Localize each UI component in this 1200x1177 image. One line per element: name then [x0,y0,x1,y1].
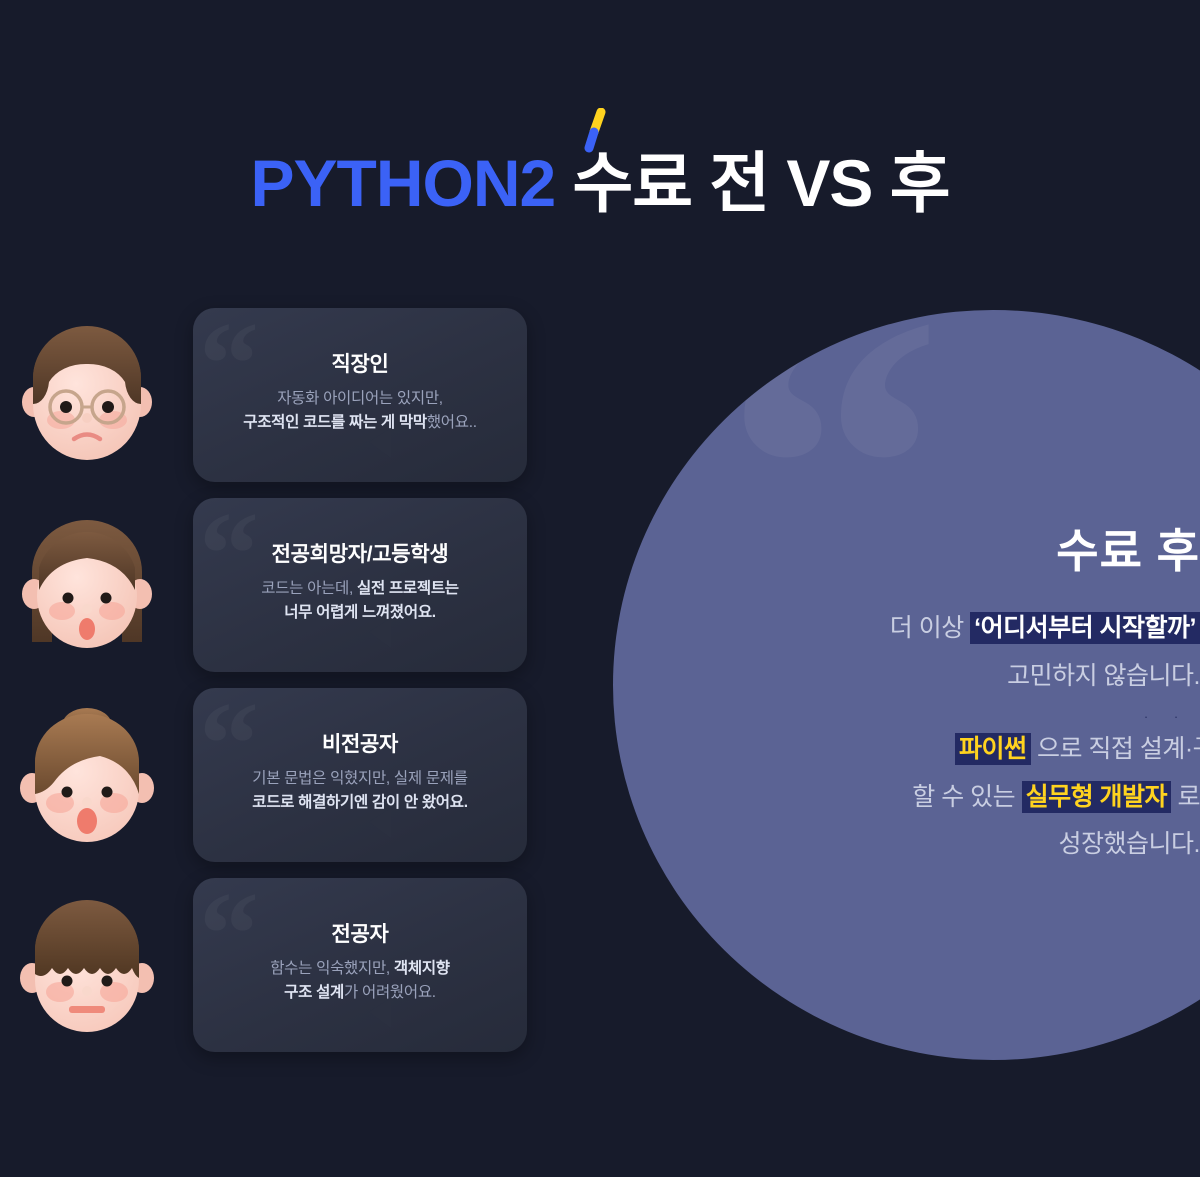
testimonial-role: 전공자 [211,918,509,948]
testimonial-body: 함수는 익숙했지만, 객체지향 구조 설계가 어려웠어요. [211,957,509,1005]
testimonial-line2-tail: 가 어려웠어요. [344,984,436,1001]
after-line-2: 고민하지 않습니다. [613,653,1200,701]
list-item: “ 비전공자 기본 문법은 익혔지만, 실제 문제를 코드로 해결하기엔 감이 … [0,680,560,870]
after-line3-emph-text: 설계·구현·자동화 [1140,735,1200,763]
testimonial-line1: 함수는 익숙했지만, [270,960,394,977]
avatar-non-major-bun-hair-surprised [12,702,162,852]
testimonial-line2-bold: 너무 어렵게 느껴졌어요. [284,604,436,621]
testimonial-role: 직장인 [211,348,509,378]
testimonial-line2-bold: 코드로 해결하기엔 감이 안 왔어요. [252,794,467,811]
testimonial-bubble: “ 직장인 자동화 아이디어는 있지만, 구조적인 코드를 짜는 게 막막했어요… [193,308,527,482]
after-line-5: 성장했습니다. [613,821,1200,869]
testimonial-line1: 자동화 아이디어는 있지만, [277,390,443,407]
testimonial-role: 전공희망자/고등학생 [211,538,509,568]
testimonial-bubble: “ 전공자 함수는 익숙했지만, 객체지향 구조 설계가 어려웠어요. [193,878,527,1052]
testimonial-line2-bold: 구조 설계 [284,984,344,1001]
after-line-3: 파이썬 으로 직접 · · · · · ·설계·구현·자동화 [613,726,1200,774]
after-line1-highlight: ‘어디서부터 시작할까’ [970,612,1200,644]
testimonial-line1: 기본 문법은 익혔지만, 실제 문제를 [252,770,467,787]
after-panel-content: 수료 후 더 이상 ‘어디서부터 시작할까’ 고민하지 않습니다. 파이썬 으로… [613,310,1200,1060]
avatar-office-worker-glasses-frown [12,322,162,472]
testimonial-line2-bold: 구조적인 코드를 짜는 게 막막 [243,414,427,431]
testimonial-body: 코드는 아는데, 실전 프로젝트는 너무 어렵게 느껴졌어요. [211,577,509,625]
after-line1-lead: 더 이상 [890,614,970,642]
testimonial-role: 비전공자 [211,728,509,758]
after-line4-lead: 할 수 있는 [912,783,1021,811]
list-item: “ 직장인 자동화 아이디어는 있지만, 구조적인 코드를 짜는 게 막막했어요… [0,300,560,490]
testimonial-line1-bold: 객체지향 [394,960,450,977]
emphasis-dots: · · · · · · [1140,710,1200,723]
testimonial-body: 기본 문법은 익혔지만, 실제 문제를 코드로 해결하기엔 감이 안 왔어요. [211,767,509,815]
after-line-1: 더 이상 ‘어디서부터 시작할까’ [613,605,1200,653]
pencil-stroke-icon [584,108,606,154]
title-brand: PYTHON2 [250,146,555,220]
avatar-major-bowl-cut-neutral [12,892,162,1042]
after-panel-title: 수료 후 [613,515,1200,581]
after-line3-mid: 으로 직접 [1031,735,1140,763]
testimonial-list: “ 직장인 자동화 아이디어는 있지만, 구조적인 코드를 짜는 게 막막했어요… [0,300,560,1060]
list-item: “ 전공자 함수는 익숙했지만, 객체지향 구조 설계가 어려웠어요. [0,870,560,1060]
avatar-student-long-hair-surprised [12,512,162,662]
testimonial-bubble: “ 비전공자 기본 문법은 익혔지만, 실제 문제를 코드로 해결하기엔 감이 … [193,688,527,862]
after-panel-body: 더 이상 ‘어디서부터 시작할까’ 고민하지 않습니다. 파이썬 으로 직접 ·… [613,605,1200,869]
after-line3-highlight: 파이썬 [955,733,1031,765]
testimonial-line2-tail: 했어요.. [427,414,477,431]
after-line4-highlight: 실무형 개발자 [1022,781,1171,813]
testimonial-body: 자동화 아이디어는 있지만, 구조적인 코드를 짜는 게 막막했어요.. [211,387,509,435]
after-line-4: 할 수 있는 실무형 개발자 로 [613,774,1200,822]
testimonial-line1-bold: 실전 프로젝트는 [357,580,459,597]
testimonial-bubble: “ 전공희망자/고등학생 코드는 아는데, 실전 프로젝트는 너무 어렵게 느껴… [193,498,527,672]
page-title: PYTHON2 수료 전 VS 후 [0,150,1200,216]
spacer [613,700,1200,726]
testimonial-line1: 코드는 아는데, [261,580,357,597]
list-item: “ 전공희망자/고등학생 코드는 아는데, 실전 프로젝트는 너무 어렵게 느껴… [0,490,560,680]
after-line3-emphasis: · · · · · ·설계·구현·자동화 [1140,726,1200,774]
title-rest: 수료 전 VS 후 [555,146,949,220]
after-line4-tail: 로 [1171,783,1200,811]
